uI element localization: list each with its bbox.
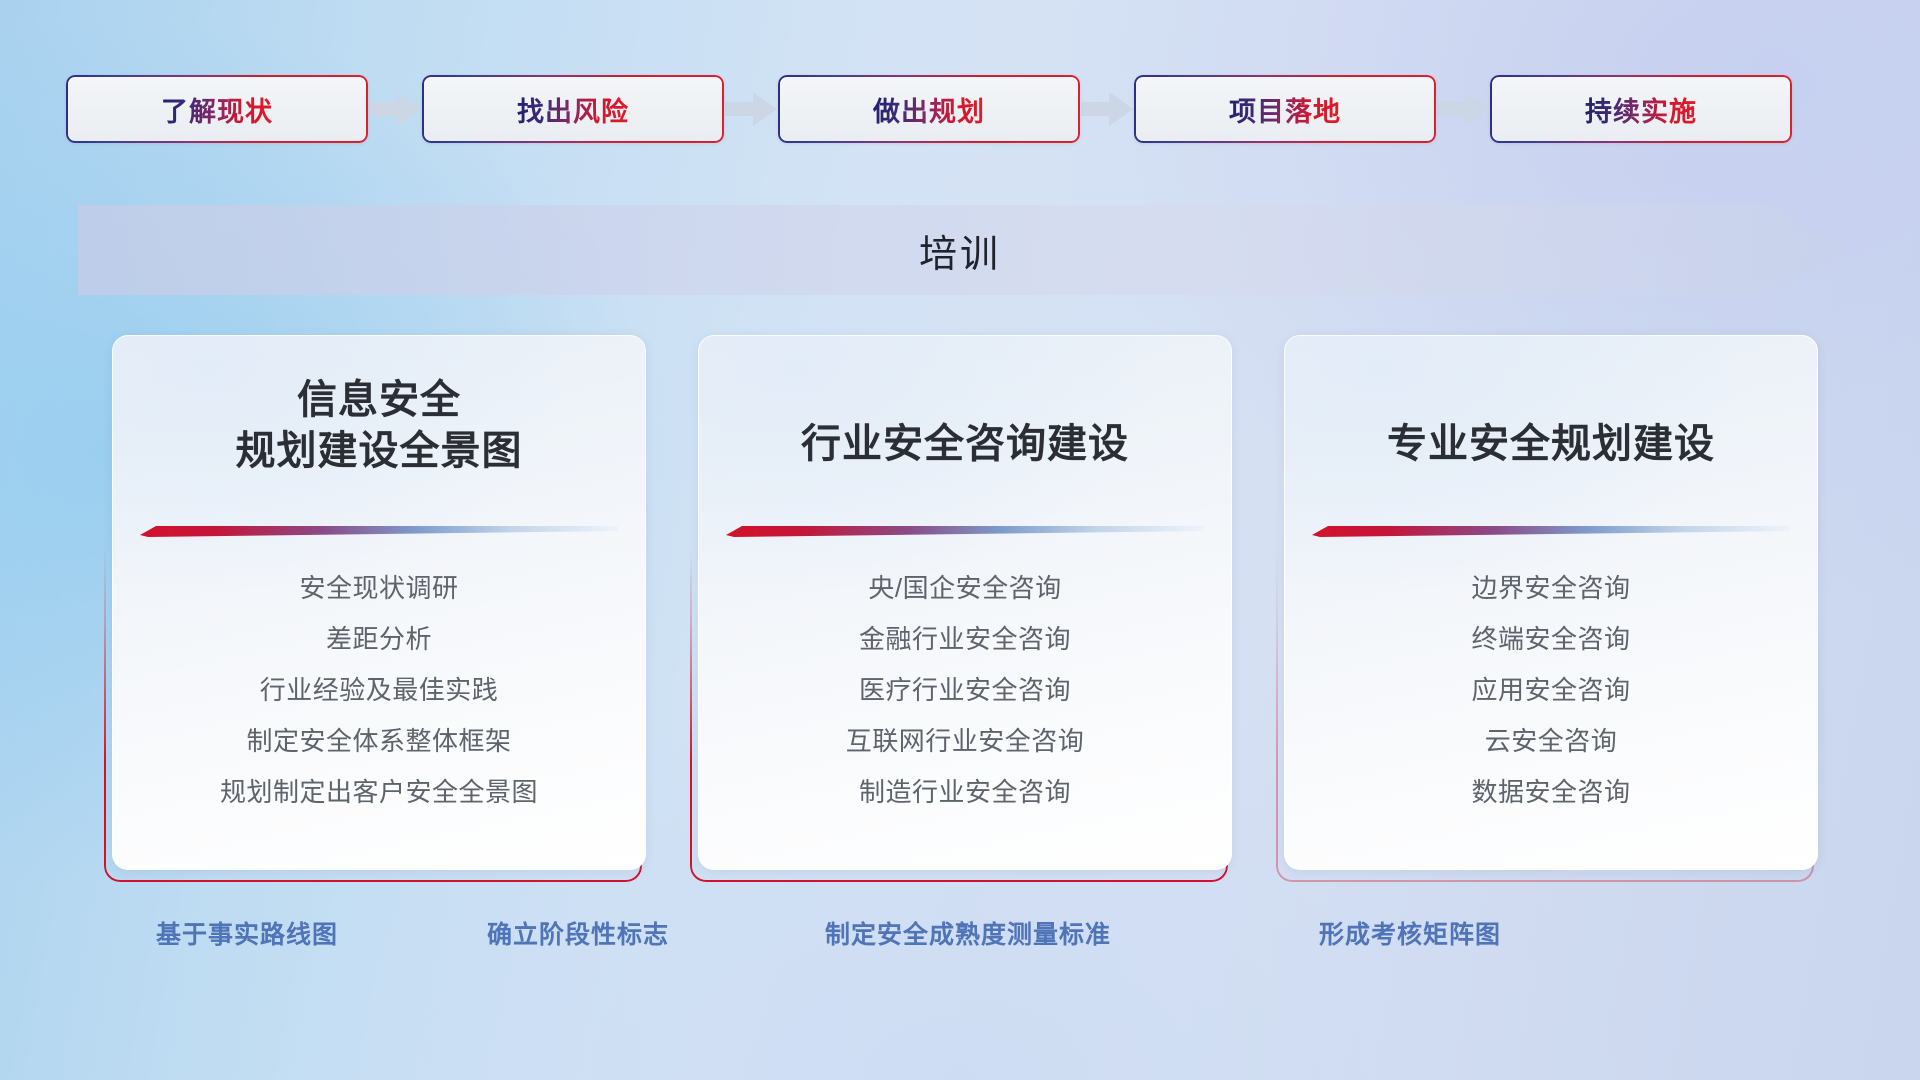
footnote-label-2: 确立阶段性标志	[487, 915, 669, 951]
list-item: 行业经验及最佳实践	[112, 665, 646, 716]
step-label: 持续实施	[1585, 90, 1697, 129]
footnote-label-4: 形成考核矩阵图	[1319, 915, 1501, 951]
card-group: 信息安全 规划建设全景图	[112, 335, 1818, 870]
list-item: 央/国企安全咨询	[698, 563, 1232, 614]
slide-canvas: 了解现状 找出风险 做出规划 项目落地	[0, 0, 1920, 1080]
training-banner: 培训	[0, 205, 1920, 295]
list-item: 终端安全咨询	[1284, 614, 1818, 665]
process-step-flow: 了解现状 找出风险 做出规划 项目落地	[66, 74, 1856, 144]
card-1[interactable]: 信息安全 规划建设全景图	[112, 335, 646, 870]
card-divider	[1312, 523, 1790, 539]
list-item: 金融行业安全咨询	[698, 614, 1232, 665]
card-title-line-1: 专业安全规划建设	[1284, 419, 1818, 470]
card-surface: 行业安全咨询建设	[698, 335, 1232, 870]
card-title: 行业安全咨询建设	[698, 419, 1232, 470]
card-title: 专业安全规划建设	[1284, 419, 1818, 470]
step-box-4[interactable]: 项目落地	[1134, 75, 1436, 143]
step-label: 找出风险	[517, 90, 629, 129]
card-divider	[140, 523, 618, 539]
card-item-list: 安全现状调研 差距分析 行业经验及最佳实践 制定安全体系整体框架 规划制定出客户…	[112, 563, 646, 818]
chevron-right-arrow-icon	[367, 91, 423, 127]
card-title-line-1: 信息安全	[112, 375, 646, 426]
chevron-right-arrow-icon	[1435, 91, 1491, 127]
list-item: 安全现状调研	[112, 563, 646, 614]
step-box-3[interactable]: 做出规划	[778, 75, 1080, 143]
list-item: 边界安全咨询	[1284, 563, 1818, 614]
card-title: 信息安全 规划建设全景图	[112, 375, 646, 477]
card-3[interactable]: 专业安全规划建设	[1284, 335, 1818, 870]
list-item: 规划制定出客户安全全景图	[112, 767, 646, 818]
step-label: 做出规划	[873, 90, 985, 129]
list-item: 数据安全咨询	[1284, 767, 1818, 818]
card-divider	[726, 523, 1204, 539]
chevron-right-arrow-icon	[723, 91, 779, 127]
card-surface: 信息安全 规划建设全景图	[112, 335, 646, 870]
chevron-right-arrow-icon	[1079, 91, 1135, 127]
step-label: 了解现状	[161, 90, 273, 129]
card-title-line-1: 行业安全咨询建设	[698, 419, 1232, 470]
footnote-label-3: 制定安全成熟度测量标准	[825, 915, 1111, 951]
card-surface: 专业安全规划建设	[1284, 335, 1818, 870]
step-box-1[interactable]: 了解现状	[66, 75, 368, 143]
card-title-line-2: 规划建设全景图	[112, 426, 646, 477]
footnote-label-1: 基于事实路线图	[156, 915, 338, 951]
list-item: 制定安全体系整体框架	[112, 716, 646, 767]
list-item: 差距分析	[112, 614, 646, 665]
card-item-list: 央/国企安全咨询 金融行业安全咨询 医疗行业安全咨询 互联网行业安全咨询 制造行…	[698, 563, 1232, 818]
list-item: 互联网行业安全咨询	[698, 716, 1232, 767]
card-2[interactable]: 行业安全咨询建设	[698, 335, 1232, 870]
footnote-row: 基于事实路线图 确立阶段性标志 制定安全成熟度测量标准 形成考核矩阵图	[0, 915, 1920, 959]
list-item: 云安全咨询	[1284, 716, 1818, 767]
step-label: 项目落地	[1229, 90, 1341, 129]
banner-title: 培训	[0, 205, 1920, 295]
list-item: 医疗行业安全咨询	[698, 665, 1232, 716]
step-box-2[interactable]: 找出风险	[422, 75, 724, 143]
card-item-list: 边界安全咨询 终端安全咨询 应用安全咨询 云安全咨询 数据安全咨询	[1284, 563, 1818, 818]
step-box-5[interactable]: 持续实施	[1490, 75, 1792, 143]
list-item: 应用安全咨询	[1284, 665, 1818, 716]
list-item: 制造行业安全咨询	[698, 767, 1232, 818]
